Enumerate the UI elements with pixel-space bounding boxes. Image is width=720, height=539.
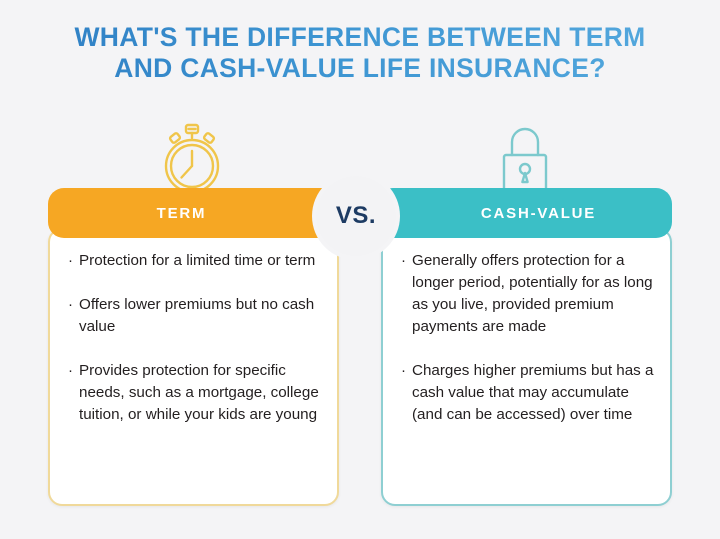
vs-label: VS. [336,202,376,230]
bullet-list-cash-value: · Generally offers protection for a long… [401,250,656,448]
header-bar-term: TERM [48,188,343,238]
bullet-marker: · [68,360,79,382]
page-title-line-2: AND CASH-VALUE LIFE INSURANCE? [26,53,694,84]
bullet-marker: · [401,250,412,272]
list-item: · Generally offers protection for a long… [401,250,656,338]
list-item: · Charges higher premiums but has a cash… [401,360,656,426]
bullet-text: Offers lower premiums but no cash value [79,294,323,338]
card-term: · Protection for a limited time or term … [48,228,339,506]
list-item: · Provides protection for specific needs… [68,360,323,426]
padlock-icon-glyph [496,122,554,196]
stopwatch-icon [157,118,227,196]
header-label-term: TERM [157,205,207,222]
list-item: · Offers lower premiums but no cash valu… [68,294,323,338]
header-bar-cash-value: CASH-VALUE [377,188,672,238]
page-title-line-1: WHAT'S THE DIFFERENCE BETWEEN TERM [26,22,694,53]
bullet-marker: · [68,294,79,316]
bullet-text: Generally offers protection for a longer… [412,250,656,338]
vs-divider-badge: VS. [316,176,396,256]
page-title: WHAT'S THE DIFFERENCE BETWEEN TERM AND C… [0,22,720,84]
bullet-text: Provides protection for specific needs, … [79,360,323,426]
header-label-cash-value: CASH-VALUE [481,205,596,222]
padlock-icon [490,118,560,196]
bullet-marker: · [68,250,79,272]
bullet-text: Charges higher premiums but has a cash v… [412,360,656,426]
card-cash-value: · Generally offers protection for a long… [381,228,672,506]
bullet-text: Protection for a limited time or term [79,250,315,272]
infographic-page: WHAT'S THE DIFFERENCE BETWEEN TERM AND C… [0,0,720,539]
list-item: · Protection for a limited time or term [68,250,323,272]
bullet-list-term: · Protection for a limited time or term … [68,250,323,448]
stopwatch-icon-glyph [159,122,225,196]
bullet-marker: · [401,360,412,382]
